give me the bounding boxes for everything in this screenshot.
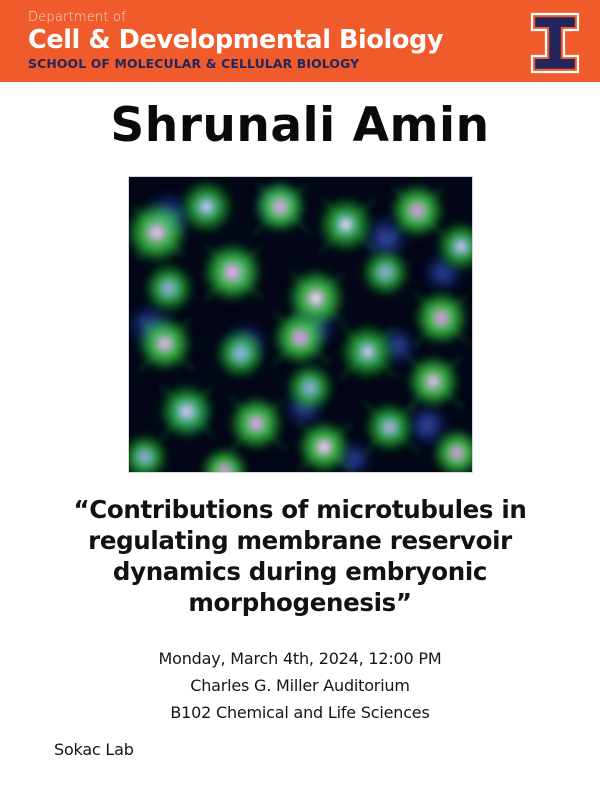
talk-title: “Contributions of microtubules in regula… bbox=[52, 494, 548, 618]
micrograph-image bbox=[128, 176, 473, 473]
lab-name: Sokac Lab bbox=[54, 740, 134, 760]
event-building: B102 Chemical and Life Sciences bbox=[0, 699, 600, 726]
header-band: Department of Cell & Developmental Biolo… bbox=[0, 0, 600, 82]
event-venue: Charles G. Miller Auditorium bbox=[0, 672, 600, 699]
department-eyebrow: Department of bbox=[28, 10, 498, 25]
school-name: SCHOOL OF MOLECULAR & CELLULAR BIOLOGY bbox=[28, 57, 498, 71]
page-title: Shrunali Amin bbox=[0, 100, 600, 152]
event-datetime: Monday, March 4th, 2024, 12:00 PM bbox=[0, 645, 600, 672]
department-branding: Department of Cell & Developmental Biolo… bbox=[28, 10, 498, 71]
department-name: Cell & Developmental Biology bbox=[28, 26, 498, 55]
illinois-block-i-logo bbox=[528, 12, 582, 74]
event-details: Monday, March 4th, 2024, 12:00 PM Charle… bbox=[0, 645, 600, 726]
